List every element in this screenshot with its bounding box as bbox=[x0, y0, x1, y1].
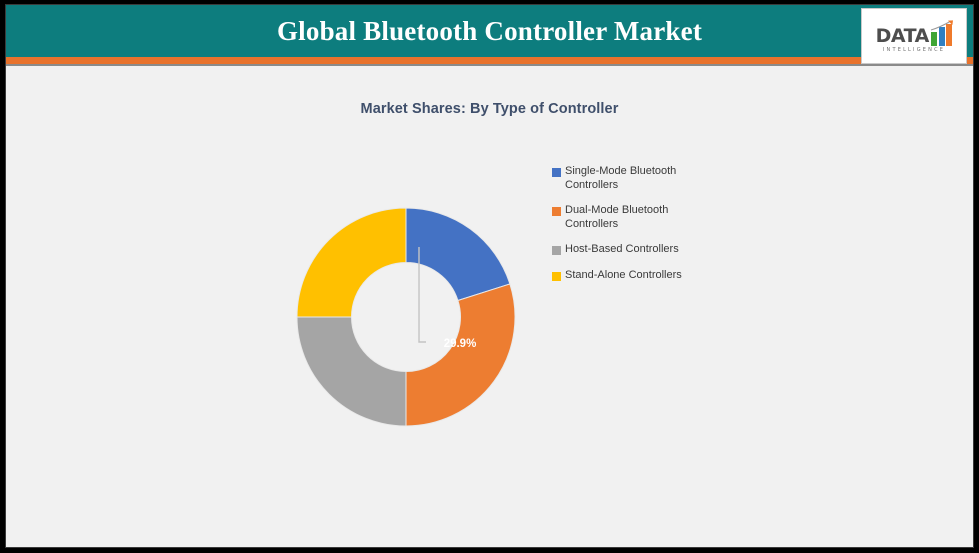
legend-item[interactable]: Host-Based Controllers bbox=[552, 243, 732, 257]
donut-data-label: 29.9% bbox=[444, 338, 477, 350]
brand-logo-row: DATA bbox=[876, 20, 953, 46]
legend-item-label: Host-Based Controllers bbox=[565, 243, 679, 257]
donut-slice[interactable] bbox=[406, 208, 510, 300]
legend-item-label: Single-Mode Bluetooth Controllers bbox=[565, 165, 715, 192]
brand-logo: DATA INTELLIGENCE bbox=[861, 8, 967, 64]
legend-item-label: Dual-Mode Bluetooth Controllers bbox=[565, 204, 715, 231]
chart-legend: Single-Mode Bluetooth Controllers Dual-M… bbox=[552, 165, 732, 294]
donut-chart-svg: 29.9% bbox=[288, 199, 524, 435]
donut-slice[interactable] bbox=[297, 208, 406, 317]
legend-swatch-icon bbox=[552, 207, 561, 216]
donut-slices bbox=[297, 208, 515, 426]
legend-item[interactable]: Dual-Mode Bluetooth Controllers bbox=[552, 204, 732, 231]
slide-root: Global Bluetooth Controller Market DATA bbox=[0, 0, 979, 553]
legend-swatch-icon bbox=[552, 272, 561, 281]
brand-logo-subtitle: INTELLIGENCE bbox=[883, 47, 945, 53]
page-title: Global Bluetooth Controller Market bbox=[6, 5, 973, 57]
donut-data-labels: 29.9% bbox=[444, 338, 477, 350]
legend-item[interactable]: Single-Mode Bluetooth Controllers bbox=[552, 165, 732, 192]
slide-page: Global Bluetooth Controller Market DATA bbox=[5, 4, 974, 548]
brand-logo-inner: DATA INTELLIGENCE bbox=[862, 9, 966, 63]
legend-swatch-icon bbox=[552, 168, 561, 177]
legend-swatch-icon bbox=[552, 246, 561, 255]
legend-item[interactable]: Stand-Alone Controllers bbox=[552, 269, 732, 283]
header-shadow-line bbox=[6, 64, 973, 66]
brand-logo-bars-icon bbox=[930, 24, 953, 46]
donut-slice[interactable] bbox=[297, 317, 406, 426]
brand-logo-bar-green bbox=[931, 32, 937, 46]
brand-logo-arrow-icon bbox=[930, 20, 956, 32]
header-accent-bar bbox=[6, 57, 973, 64]
chart-title: Market Shares: By Type of Controller bbox=[6, 101, 973, 117]
brand-logo-wordmark: DATA bbox=[876, 26, 929, 46]
donut-chart: 29.9% bbox=[288, 199, 524, 435]
donut-slice[interactable] bbox=[406, 284, 515, 426]
legend-item-label: Stand-Alone Controllers bbox=[565, 269, 682, 283]
